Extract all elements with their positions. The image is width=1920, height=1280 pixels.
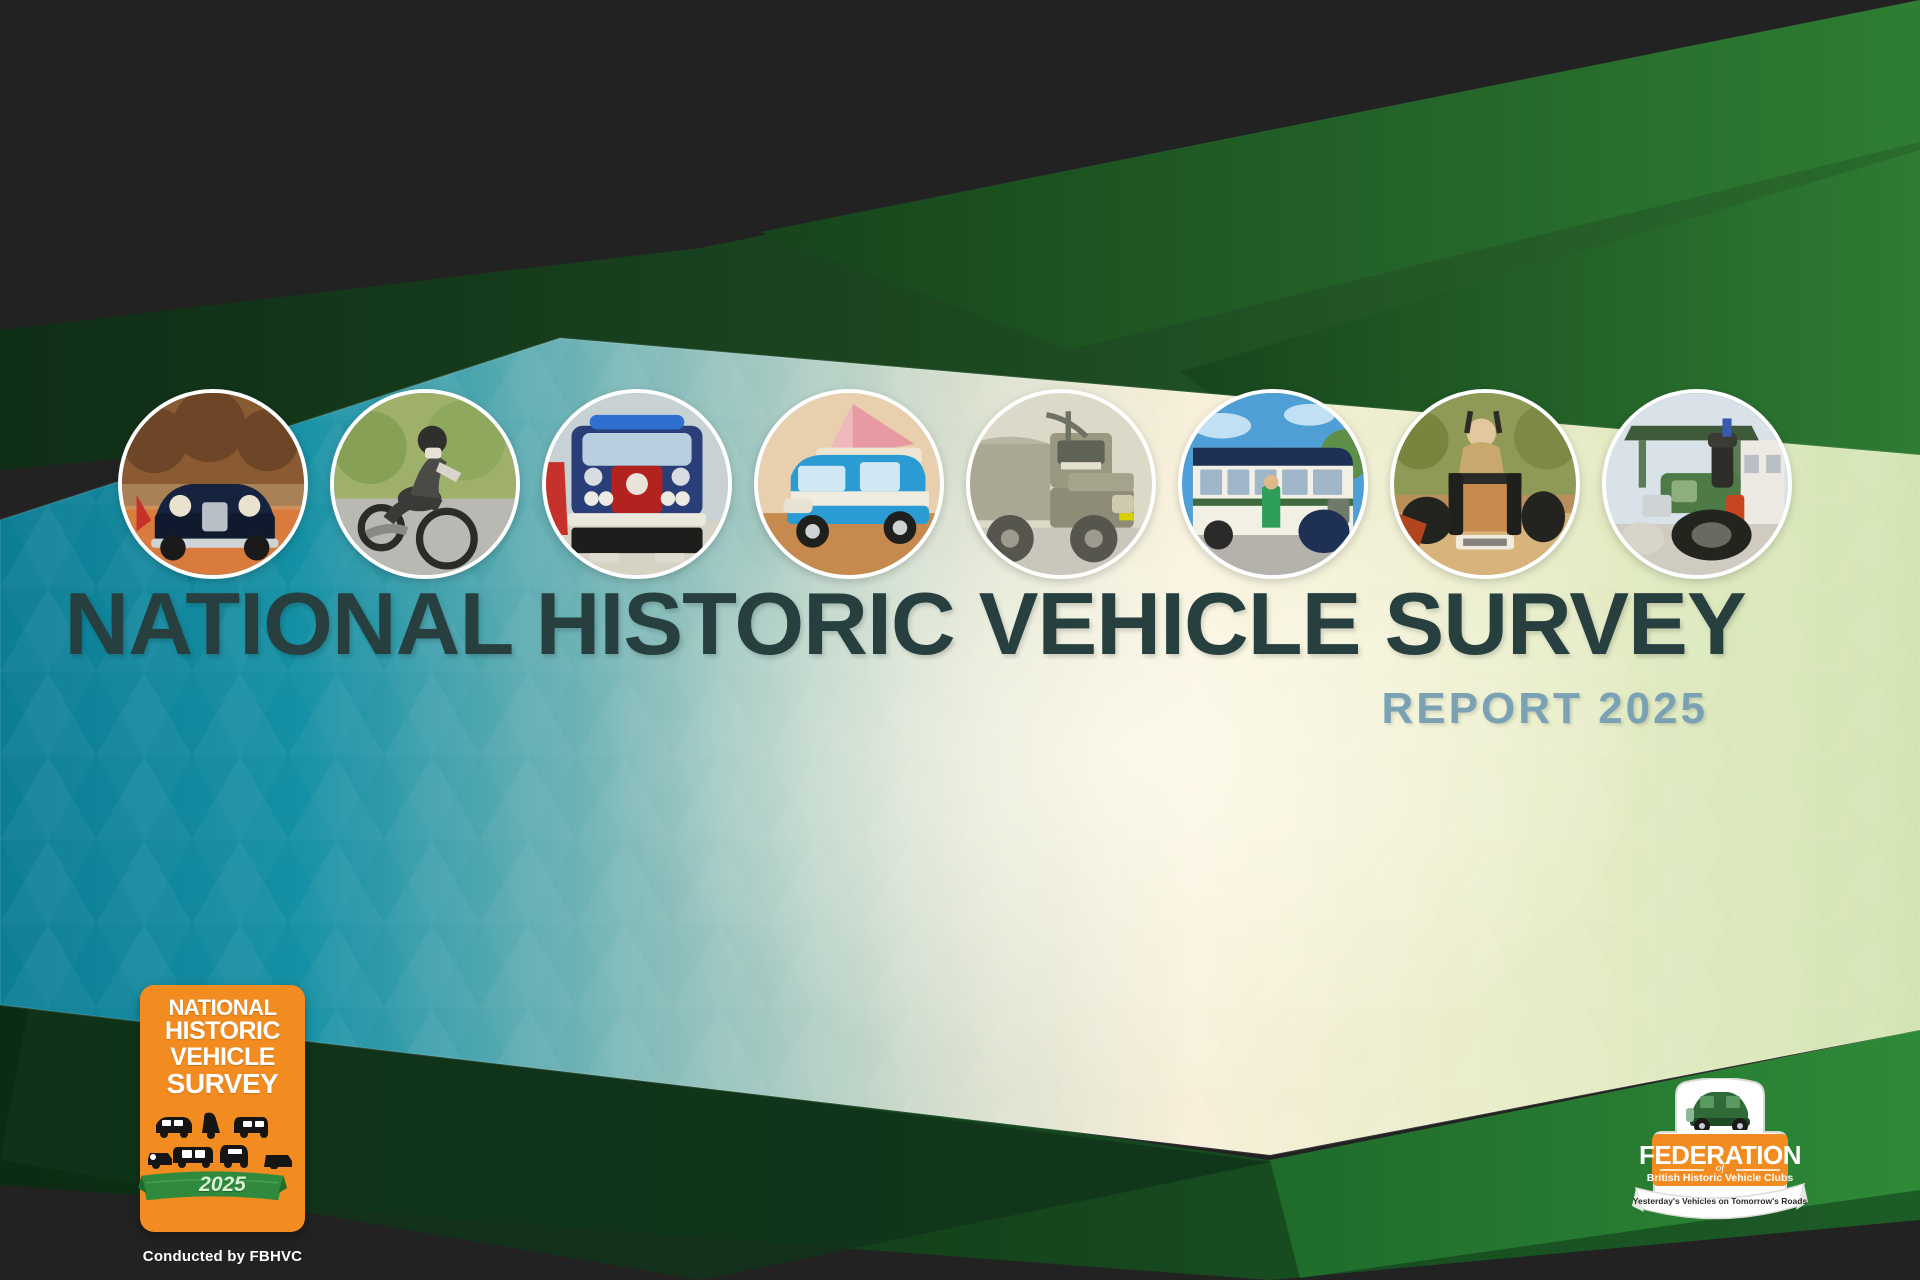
vehicle-circle-classic-camper-van [754, 389, 944, 579]
page-subtitle: REPORT 2025 [0, 684, 1800, 734]
federation-car-icon [1680, 1082, 1760, 1134]
vehicle-circle-vintage-tractor [1390, 389, 1580, 579]
survey-logo-ribbon: 2025 [148, 1164, 297, 1210]
survey-logo-footer: Conducted by FBHVC [140, 1248, 305, 1265]
page-title: NATIONAL HISTORIC VEHICLE SURVEY [0, 580, 1818, 668]
federation-banner-text: Yesterday's Vehicles on Tomorrow's Roads [1633, 1196, 1808, 1206]
vehicle-circle-vintage-fire-engine [542, 389, 732, 579]
survey-logo[interactable]: NATIONAL HISTORIC VEHICLE SURVEY [140, 985, 305, 1265]
survey-logo-line-3: VEHICLE [148, 1045, 297, 1071]
vehicle-circle-vintage-coach-bus [1178, 389, 1368, 579]
vehicle-circle-vintage-motorcycle [330, 389, 520, 579]
federation-subtitle: British Historic Vehicle Clubs [1647, 1172, 1794, 1184]
vehicle-circle-row [118, 384, 1818, 584]
vehicle-circle-steam-roller [1602, 389, 1792, 579]
survey-logo-line-1: NATIONAL [148, 997, 297, 1019]
title-block: NATIONAL HISTORIC VEHICLE SURVEY REPORT … [0, 580, 1800, 734]
report-cover-stage: NATIONAL HISTORIC VEHICLE SURVEY REPORT … [0, 0, 1920, 1280]
vehicle-circle-classic-sports-car [118, 389, 308, 579]
survey-logo-year: 2025 [148, 1173, 297, 1197]
survey-logo-card: NATIONAL HISTORIC VEHICLE SURVEY [140, 985, 305, 1232]
federation-logo[interactable]: FEDERATION of British Historic Vehicle C… [1630, 1078, 1810, 1233]
survey-logo-line-2: HISTORIC [148, 1019, 297, 1045]
vehicle-circle-military-truck [966, 389, 1156, 579]
survey-logo-line-4: SURVEY [148, 1070, 297, 1099]
